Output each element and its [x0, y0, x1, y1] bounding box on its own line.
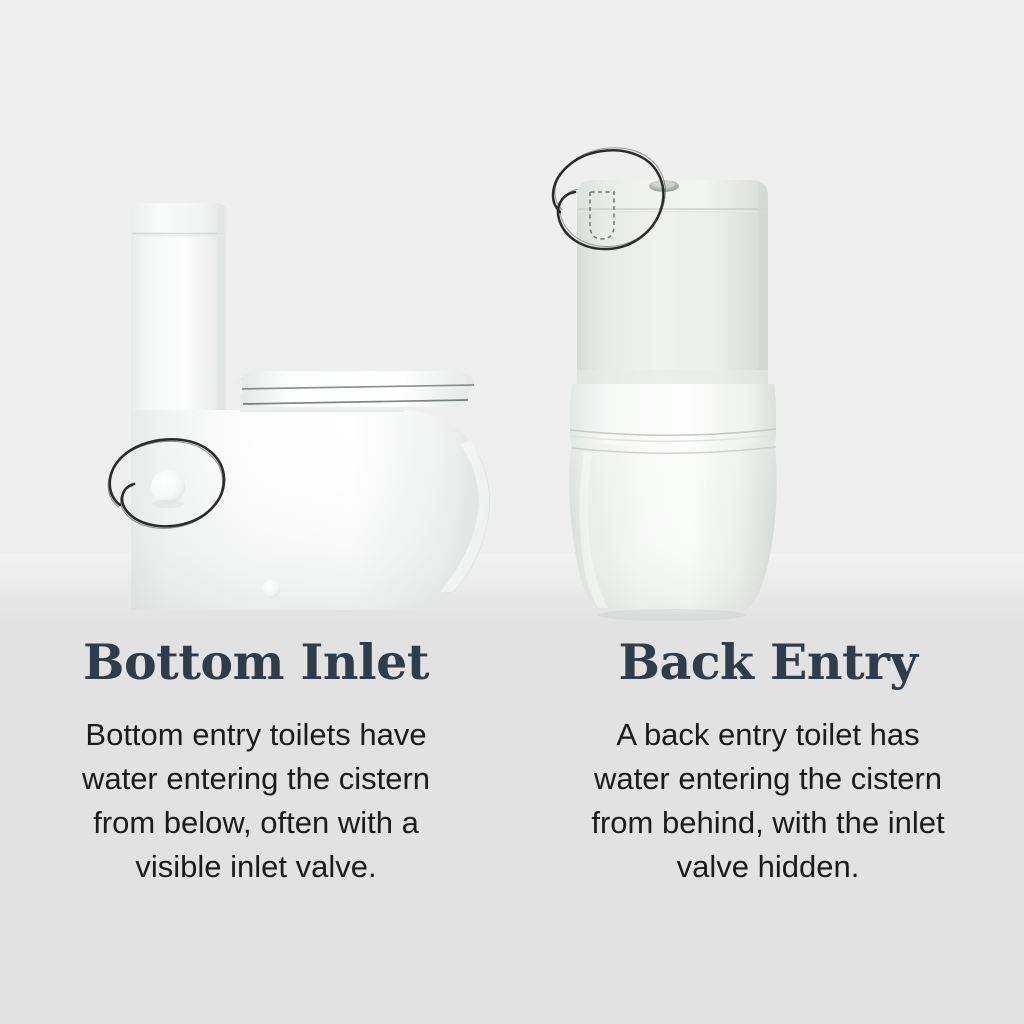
illustration-back-entry — [512, 0, 1024, 640]
panel-body-bottom-inlet: Bottom entry toilets have water entering… — [36, 713, 476, 889]
cistern-part — [131, 203, 226, 410]
cistern-part — [577, 180, 768, 384]
body-line: from behind, with the inlet — [548, 801, 988, 845]
fixing-bolt-cap — [262, 580, 280, 598]
panel-heading-bottom-inlet: Bottom Inlet — [36, 638, 476, 687]
panel-back-entry-text: Back Entry A back entry toilet has water… — [548, 638, 988, 889]
cistern-lid-part — [131, 203, 226, 232]
body-line: visible inlet valve. — [36, 845, 476, 889]
infographic-canvas: Bottom Inlet Bottom entry toilets have w… — [0, 0, 1024, 1024]
inlet-valve-bump — [151, 470, 185, 504]
body-line: A back entry toilet has — [548, 713, 988, 757]
illustration-bottom-inlet — [0, 0, 512, 640]
seat-part — [570, 384, 776, 450]
body-line: water entering the cistern — [36, 757, 476, 801]
body-line: valve hidden. — [548, 845, 988, 889]
body-line: from below, often with a — [36, 801, 476, 845]
panel-bottom-inlet-text: Bottom Inlet Bottom entry toilets have w… — [36, 638, 476, 889]
bowl-part — [569, 440, 776, 621]
seat-part — [232, 371, 474, 407]
panel-body-back-entry: A back entry toilet has water entering t… — [548, 713, 988, 889]
panel-heading-back-entry: Back Entry — [548, 638, 988, 687]
body-line: water entering the cistern — [548, 757, 988, 801]
body-line: Bottom entry toilets have — [36, 713, 476, 757]
